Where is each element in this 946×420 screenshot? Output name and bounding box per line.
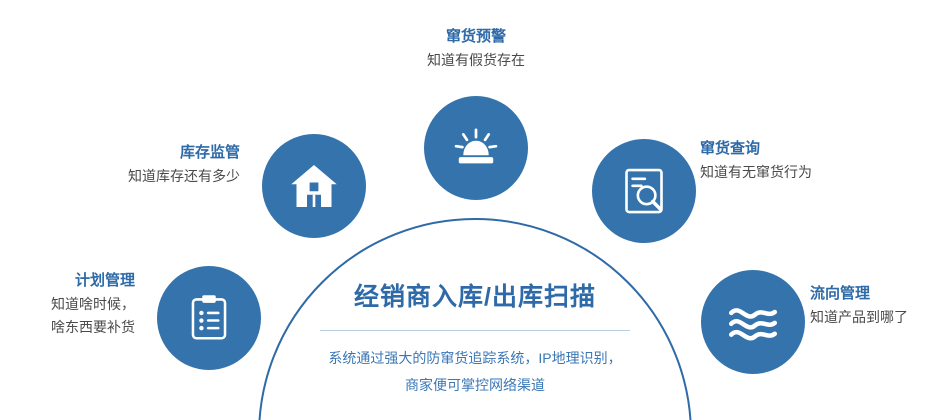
center-subtitle-line-1: 系统通过强大的防窜货追踪系统，IP地理识别，: [258, 345, 692, 372]
node-circle-plan-management[interactable]: [157, 266, 261, 370]
node-title-plan-management: 计划管理: [0, 270, 135, 293]
node-circle-flow-management[interactable]: [701, 270, 805, 374]
center-divider: [320, 330, 630, 331]
node-label-flow-management: 流向管理 知道产品到哪了: [810, 283, 946, 329]
node-circle-inventory-supervision[interactable]: [262, 134, 366, 238]
node-desc-diversion-alert: 知道有假货存在: [376, 49, 576, 72]
infographic-canvas: 经销商入库/出库扫描 系统通过强大的防窜货追踪系统，IP地理识别， 商家便可掌控…: [0, 0, 946, 420]
document-search-icon: [616, 163, 672, 219]
alarm-light-icon: [447, 119, 505, 177]
center-subtitle-line-2: 商家便可掌控网络渠道: [258, 372, 692, 399]
node-title-diversion-alert: 窜货预警: [376, 26, 576, 49]
clipboard-icon: [182, 291, 236, 345]
node-desc-diversion-query: 知道有无窜货行为: [700, 161, 920, 184]
node-circle-diversion-query[interactable]: [592, 139, 696, 243]
node-circle-diversion-alert[interactable]: [424, 96, 528, 200]
node-desc-plan-management-line-1: 知道啥时候，: [0, 293, 135, 316]
waves-icon: [724, 293, 782, 351]
center-text-block: 经销商入库/出库扫描 系统通过强大的防窜货追踪系统，IP地理识别， 商家便可掌控…: [258, 282, 692, 398]
node-desc-flow-management: 知道产品到哪了: [810, 306, 946, 329]
node-label-diversion-query: 窜货查询 知道有无窜货行为: [700, 138, 920, 184]
node-label-plan-management: 计划管理 知道啥时候， 啥东西要补货: [0, 270, 135, 339]
node-desc-inventory-supervision: 知道库存还有多少: [60, 165, 240, 188]
node-desc-plan-management-line-2: 啥东西要补货: [0, 316, 135, 339]
house-icon: [286, 158, 342, 214]
center-title: 经销商入库/出库扫描: [258, 282, 692, 312]
node-title-inventory-supervision: 库存监管: [60, 142, 240, 165]
node-label-diversion-alert: 窜货预警 知道有假货存在: [376, 26, 576, 72]
node-title-flow-management: 流向管理: [810, 283, 946, 306]
node-label-inventory-supervision: 库存监管 知道库存还有多少: [60, 142, 240, 188]
node-title-diversion-query: 窜货查询: [700, 138, 920, 161]
